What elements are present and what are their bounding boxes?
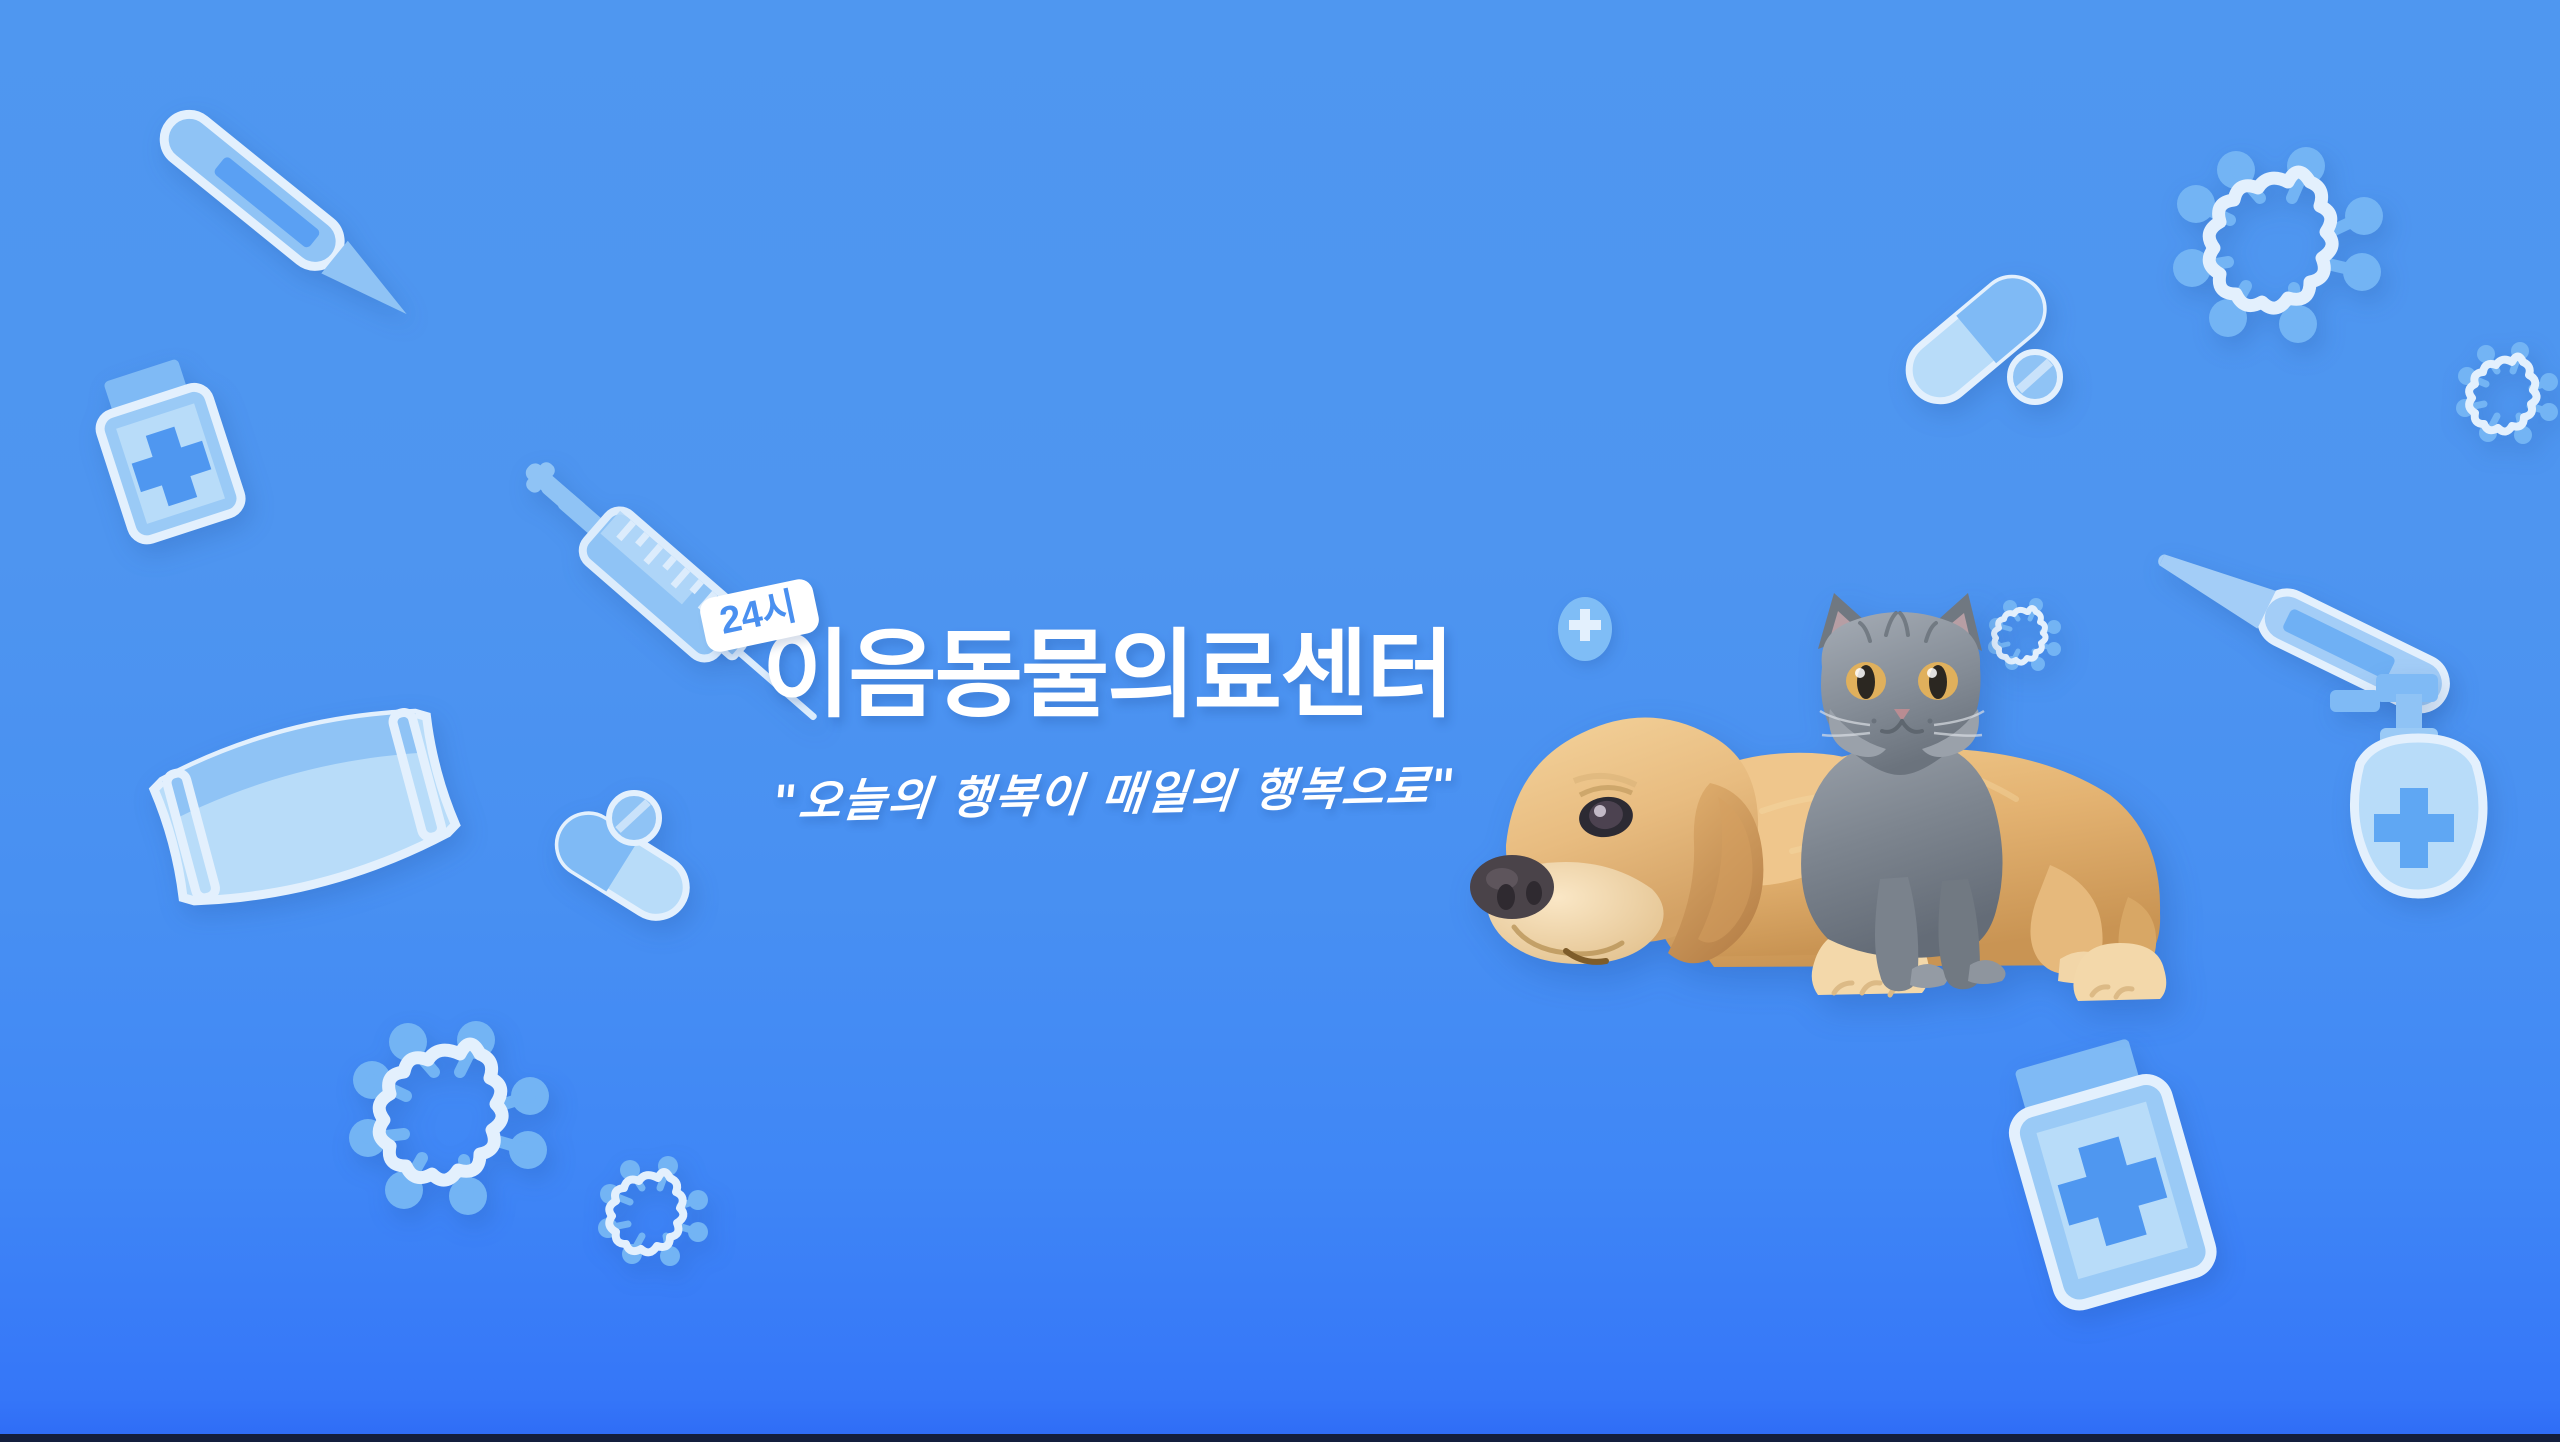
sanitizer-bottle-icon — [2308, 672, 2518, 902]
hours-badge-label: 24시 — [717, 588, 800, 641]
capsule-icon — [548, 788, 728, 918]
tagline: "오늘의 행복이 매일의 행복으로" — [770, 750, 1460, 833]
page-title: 이음동물의료센터 — [762, 628, 1453, 724]
thermometer-icon — [150, 105, 360, 285]
dog-and-cat-photo — [1410, 545, 2170, 1015]
hero-banner: 24시 이음동물의료센터 "오늘의 행복이 매일의 행복으로" — [0, 0, 2560, 1442]
syringe-icon — [500, 505, 770, 835]
virus-icon-small — [598, 1152, 716, 1270]
virus-icon-right-small — [2456, 338, 2560, 448]
medicine-bottle-icon — [1990, 1040, 2250, 1330]
virus-icon-large — [348, 1010, 578, 1240]
virus-icon-right-large — [2172, 140, 2412, 380]
pill-bottle-icon — [70, 355, 290, 585]
face-mask-icon — [150, 700, 470, 930]
capsule-icon-right — [1896, 262, 2096, 422]
